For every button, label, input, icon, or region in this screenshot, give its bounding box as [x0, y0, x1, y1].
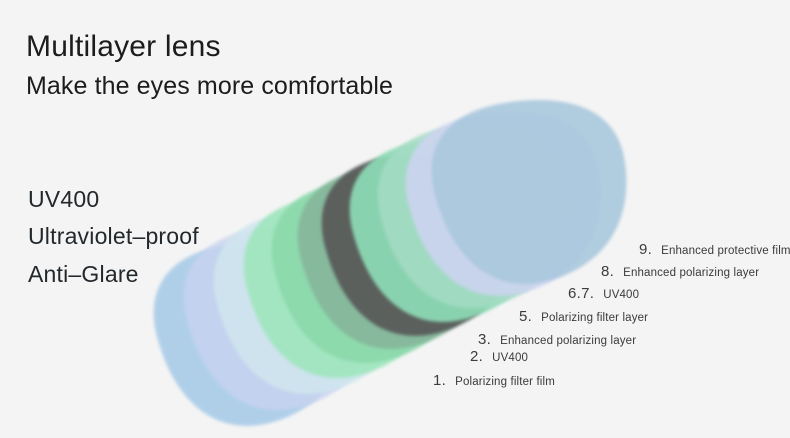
callout-number: 3. — [478, 331, 491, 348]
callout-label-5: 5.Polarizing filter layer — [519, 308, 648, 325]
callout-label-2: 2.UV400 — [470, 348, 528, 365]
poster-canvas: Multilayer lens Make the eyes more comfo… — [0, 0, 790, 438]
callout-description: Enhanced polarizing layer — [500, 335, 636, 347]
callout-number: 9. — [639, 241, 652, 258]
callout-number: 5. — [519, 308, 532, 325]
callout-label-67: 6.7.UV400 — [568, 285, 639, 302]
callout-number: 6.7. — [568, 285, 594, 302]
callout-number: 2. — [470, 348, 483, 365]
callout-label-9: 9.Enhanced protective film — [639, 241, 790, 258]
callout-label-1: 1.Polarizing filter film — [433, 372, 555, 389]
callout-number: 8. — [601, 263, 614, 280]
callout-number: 1. — [433, 372, 446, 389]
callout-description: Enhanced polarizing layer — [623, 267, 759, 279]
callout-description: UV400 — [603, 289, 639, 301]
callout-description: Polarizing filter layer — [541, 312, 648, 324]
callout-description: Enhanced protective film — [661, 245, 790, 257]
callout-description: Polarizing filter film — [455, 376, 555, 388]
callout-label-8: 8.Enhanced polarizing layer — [601, 263, 759, 280]
callout-description: UV400 — [492, 352, 528, 364]
callout-label-list: 9.Enhanced protective film8.Enhanced pol… — [0, 0, 790, 438]
callout-label-3: 3.Enhanced polarizing layer — [478, 331, 636, 348]
